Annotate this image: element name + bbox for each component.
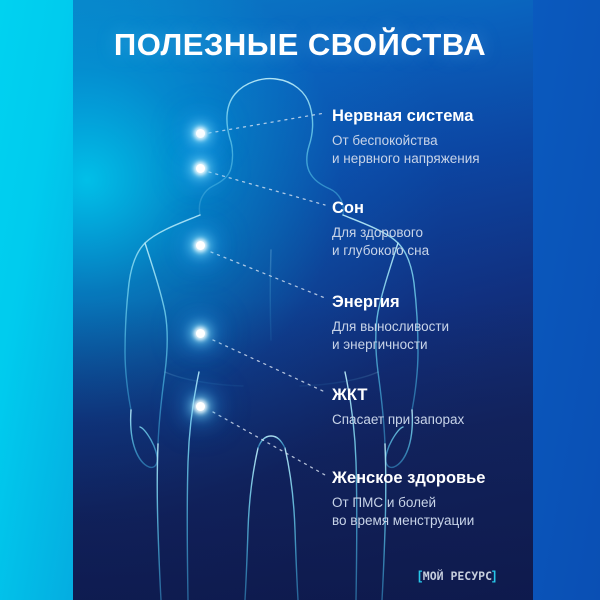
benefit-description-line: От ПМС и болей bbox=[332, 494, 582, 512]
logo-bracket-close: ] bbox=[492, 569, 497, 583]
benefit-heading: Женское здоровье bbox=[332, 468, 582, 488]
benefit-block-sleep: Сон Для здорового и глубокого сна bbox=[332, 198, 582, 260]
benefit-description: Спасает при запорах bbox=[332, 411, 582, 429]
benefit-block-nervous-system: Нервная система От беспокойства и нервно… bbox=[332, 106, 582, 168]
benefit-heading: Сон bbox=[332, 198, 582, 218]
benefit-description-line: Для здорового bbox=[332, 224, 582, 242]
benefit-block-womens-health: Женское здоровье От ПМС и болей во время… bbox=[332, 468, 582, 530]
benefit-description: Для выносливости и энергичности bbox=[332, 318, 582, 354]
brand-logo: [МОЙ РЕСУРС] bbox=[418, 569, 497, 583]
benefit-description-line: Спасает при запорах bbox=[332, 411, 582, 429]
benefit-description: От ПМС и болей во время менструации bbox=[332, 494, 582, 530]
logo-brand-text: МОЙ РЕСУРС bbox=[423, 569, 492, 583]
benefit-description-line: и энергичности bbox=[332, 336, 582, 354]
infographic-poster: ПОЛЕЗНЫЕ СВОЙСТВА Нервная система От бес… bbox=[0, 0, 600, 600]
benefit-description-line: и глубокого сна bbox=[332, 242, 582, 260]
benefit-block-energy: Энергия Для выносливости и энергичности bbox=[332, 292, 582, 354]
benefit-description-line: От беспокойства bbox=[332, 132, 582, 150]
page-title: ПОЛЕЗНЫЕ СВОЙСТВА bbox=[0, 27, 600, 63]
benefit-heading: Энергия bbox=[332, 292, 582, 312]
benefit-description-line: и нервного напряжения bbox=[332, 150, 582, 168]
benefit-heading: Нервная система bbox=[332, 106, 582, 126]
benefit-description-line: Для выносливости bbox=[332, 318, 582, 336]
benefit-heading: ЖКТ bbox=[332, 385, 582, 405]
benefit-description: От беспокойства и нервного напряжения bbox=[332, 132, 582, 168]
benefit-block-gastrointestinal: ЖКТ Спасает при запорах bbox=[332, 385, 582, 429]
benefit-description: Для здорового и глубокого сна bbox=[332, 224, 582, 260]
benefit-description-line: во время менструации bbox=[332, 512, 582, 530]
